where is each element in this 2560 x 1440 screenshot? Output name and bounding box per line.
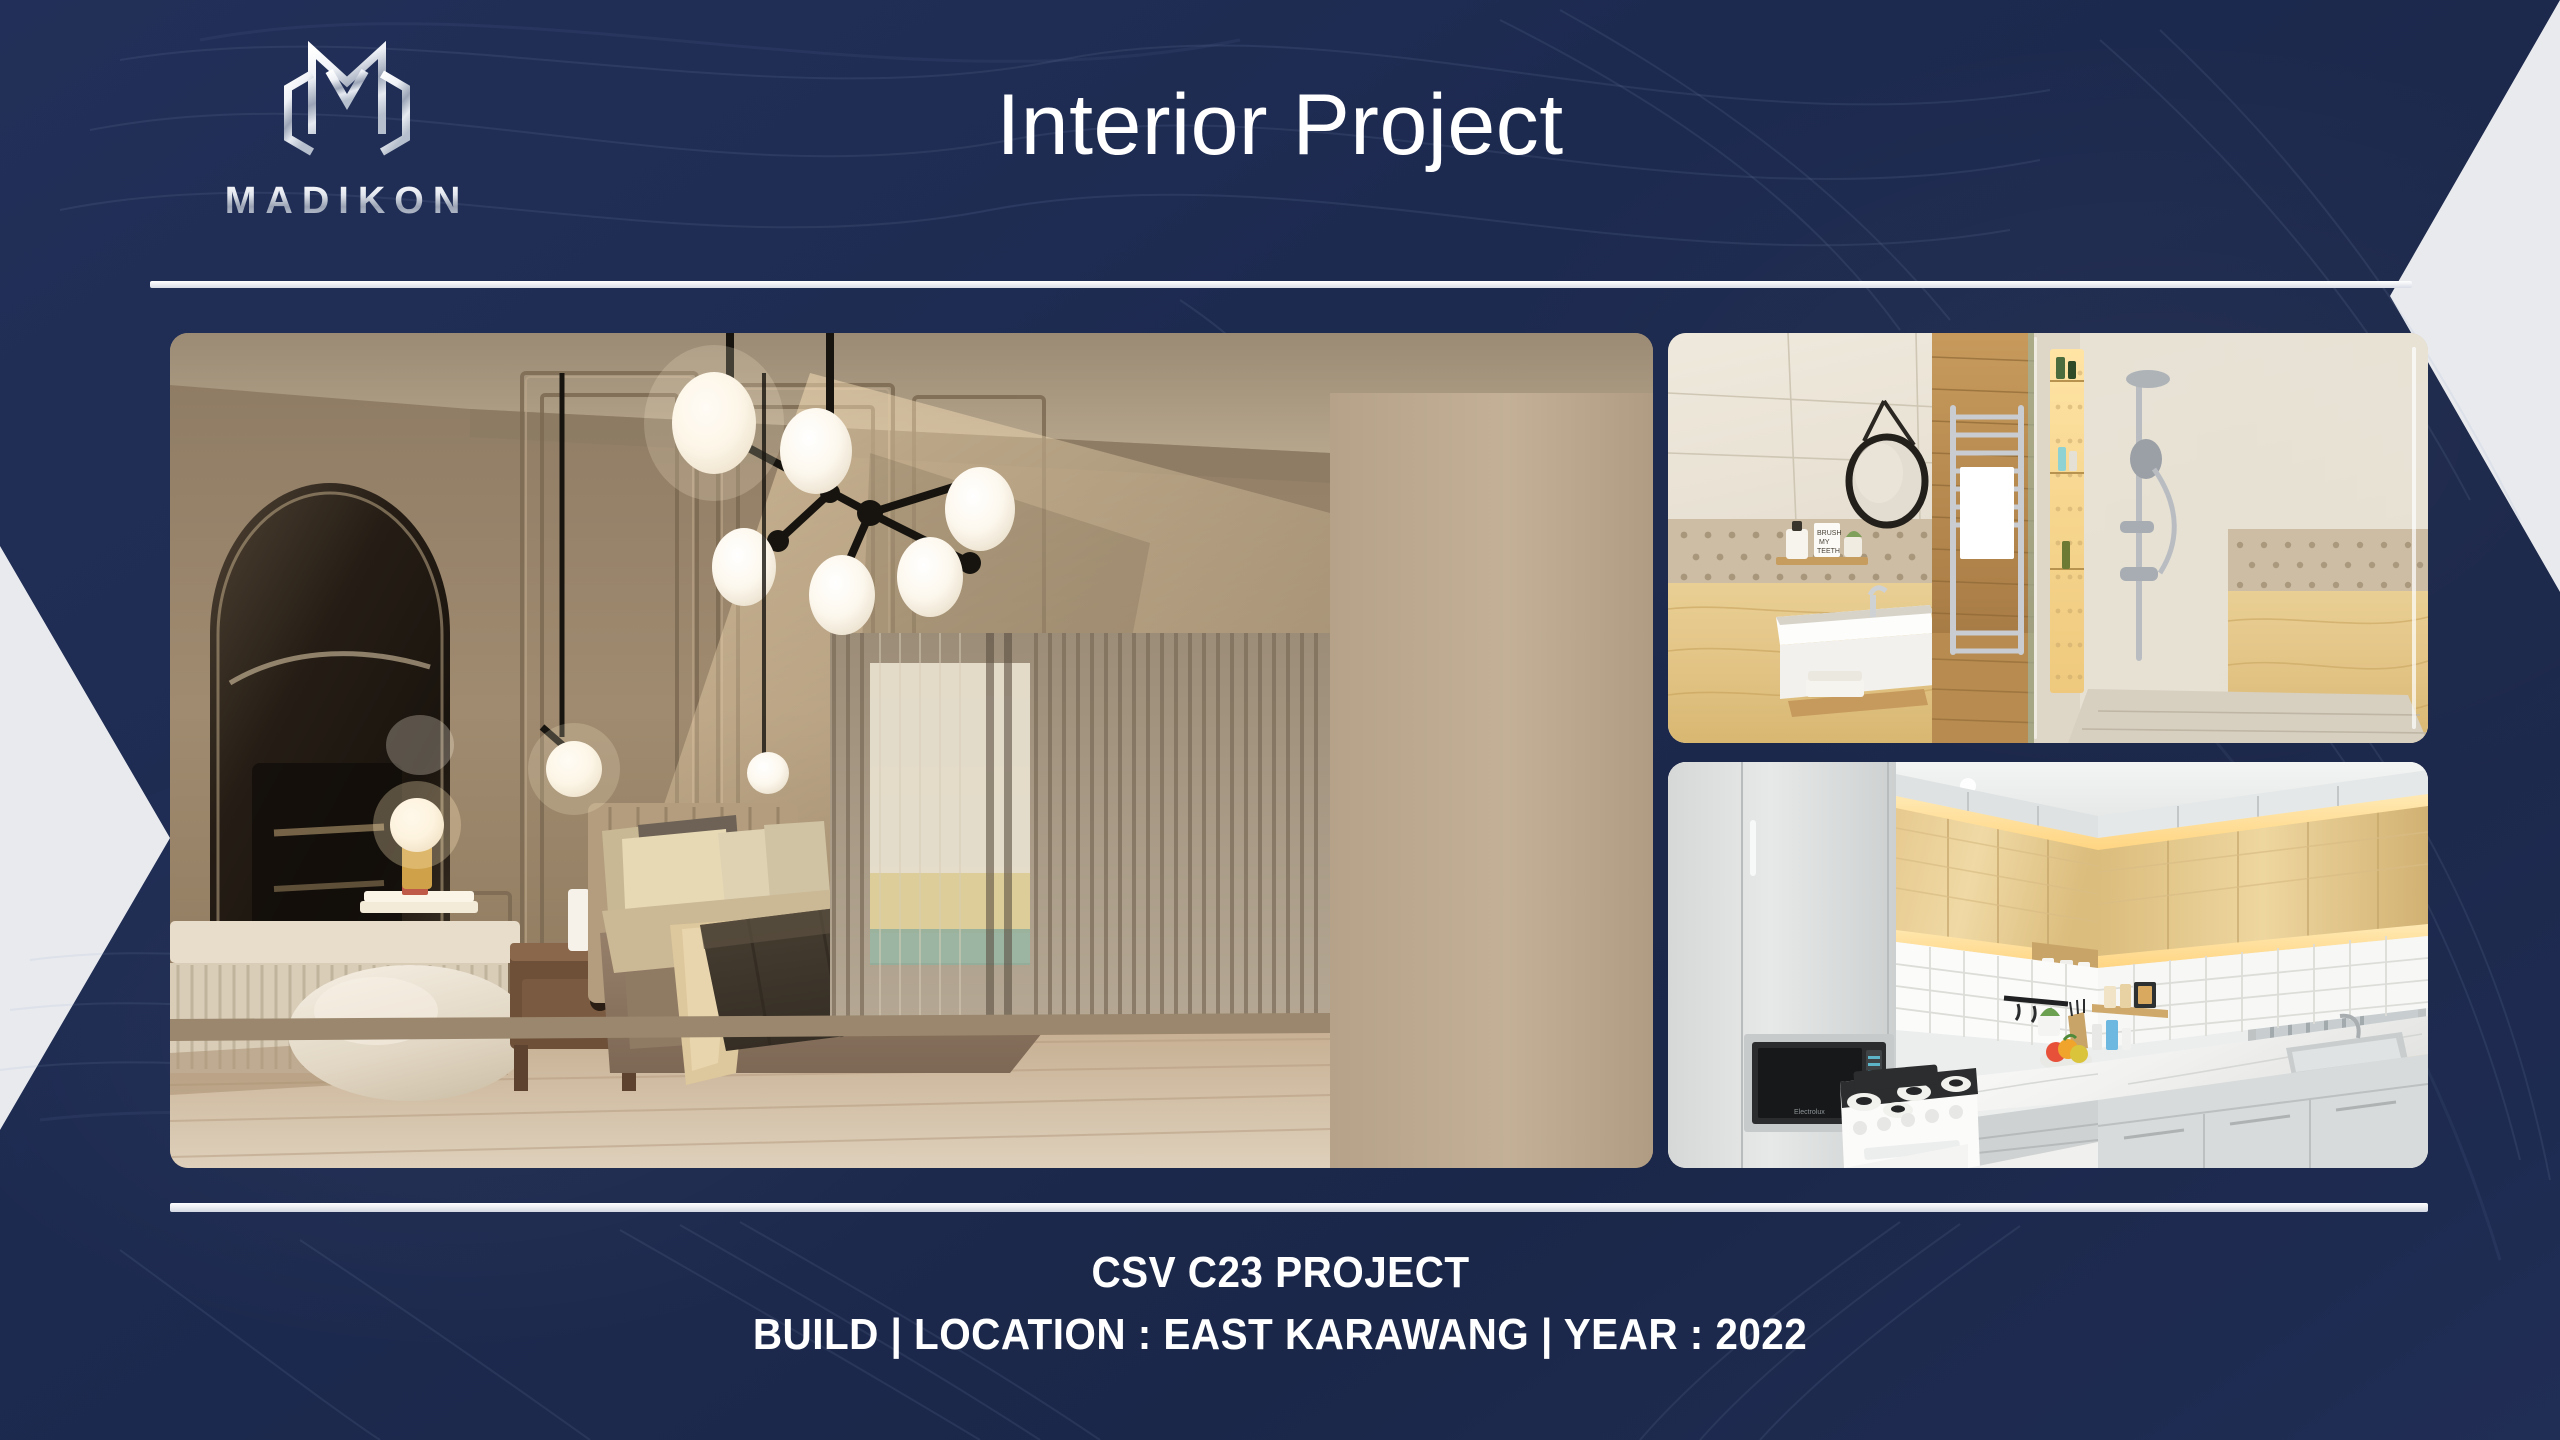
footer-divider-rule [170,1203,2428,1212]
project-name: CSV C23 PROJECT [1091,1248,1469,1298]
page-title: Interior Project [0,76,2560,175]
project-details: BUILD | LOCATION : EAST KARAWANG | YEAR … [753,1310,1807,1360]
bathroom-render[interactable]: BRUSHMYTEETH [1668,333,2428,743]
presentation-slide: MADIKON Interior Project [0,0,2560,1440]
svg-text:TEETH: TEETH [1817,548,1840,555]
caption-title-row: CSV C23 PROJECT [0,1248,2560,1298]
svg-text:MY: MY [1819,539,1830,546]
caption-subtitle-row: BUILD | LOCATION : EAST KARAWANG | YEAR … [0,1298,2560,1360]
image-gallery: BRUSHMYTEETH [170,333,2428,1168]
bedroom-illustration [170,333,1653,1168]
bathroom-illustration: BRUSHMYTEETH [1668,333,2428,743]
svg-text:BRUSH: BRUSH [1817,530,1842,537]
kitchen-render[interactable]: Electrolux [1668,762,2428,1168]
brand-wordmark: MADIKON [225,180,470,223]
kitchen-illustration: Electrolux [1668,762,2428,1168]
header-divider-rule [150,281,2412,288]
bedroom-render[interactable] [170,333,1653,1168]
project-caption: CSV C23 PROJECT BUILD | LOCATION : EAST … [0,1248,2560,1360]
svg-text:Electrolux: Electrolux [1794,1109,1825,1116]
